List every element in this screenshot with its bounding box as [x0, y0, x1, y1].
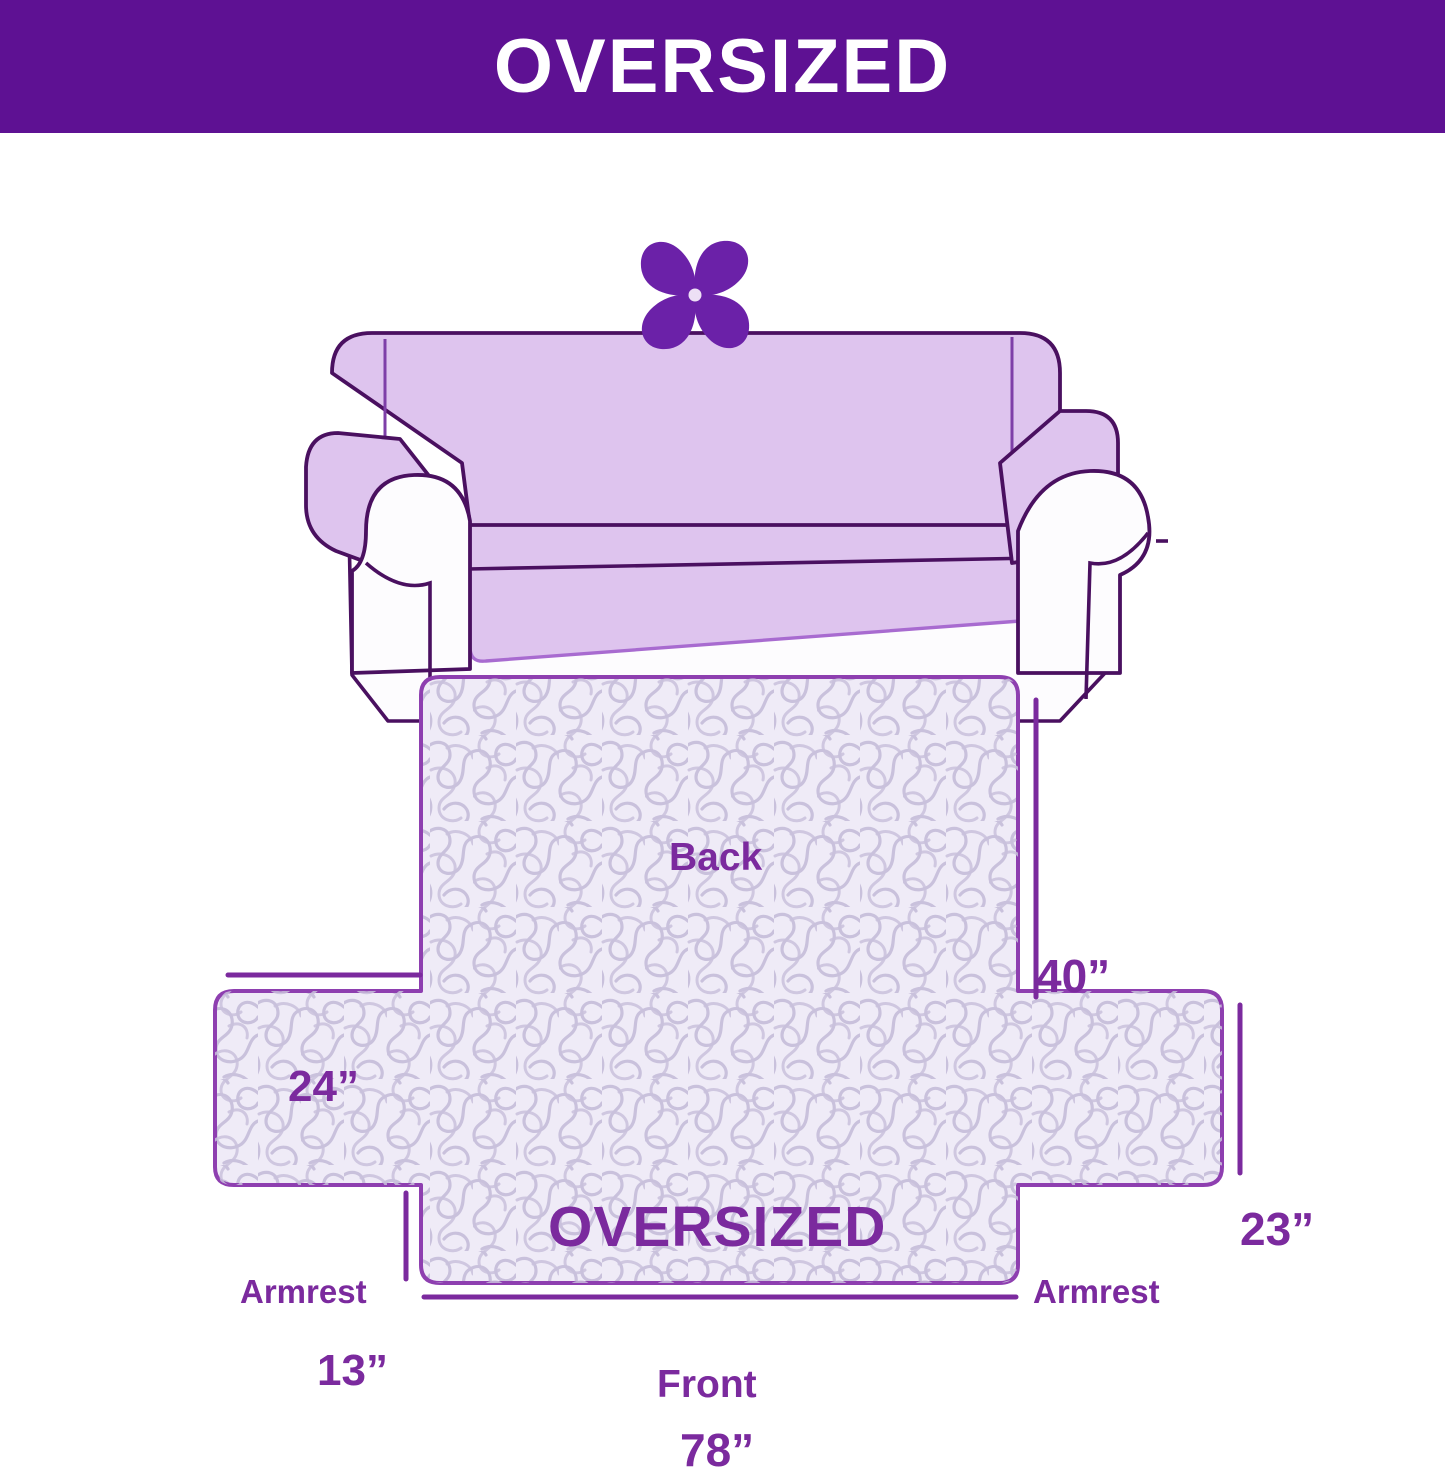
pattern-label-back: Back	[669, 838, 762, 877]
pattern-label-armrest-left: Armrest	[240, 1275, 367, 1308]
dimension-label-armrest-depth: 24”	[288, 1065, 359, 1109]
dimension-label-front-width: 78”	[680, 1427, 754, 1473]
pattern-label-armrest-right: Armrest	[1033, 1275, 1160, 1308]
dimension-label-armrest-height: 23”	[1240, 1206, 1314, 1252]
sofa-arm-left-roll	[352, 475, 470, 673]
sofa-arm-right-roll	[1018, 471, 1149, 673]
header-banner: OVERSIZED	[0, 0, 1445, 133]
dimension-label-back-height: 40”	[1036, 953, 1110, 999]
page-title: OVERSIZED	[494, 29, 951, 105]
dimension-label-armrest-drop: 13”	[317, 1349, 388, 1393]
diagram-canvas: Back Front Armrest Armrest OVERSIZED 40”…	[0, 133, 1445, 1445]
pattern-label-front: Front	[657, 1365, 757, 1404]
pattern-label-center: OVERSIZED	[548, 1199, 886, 1256]
